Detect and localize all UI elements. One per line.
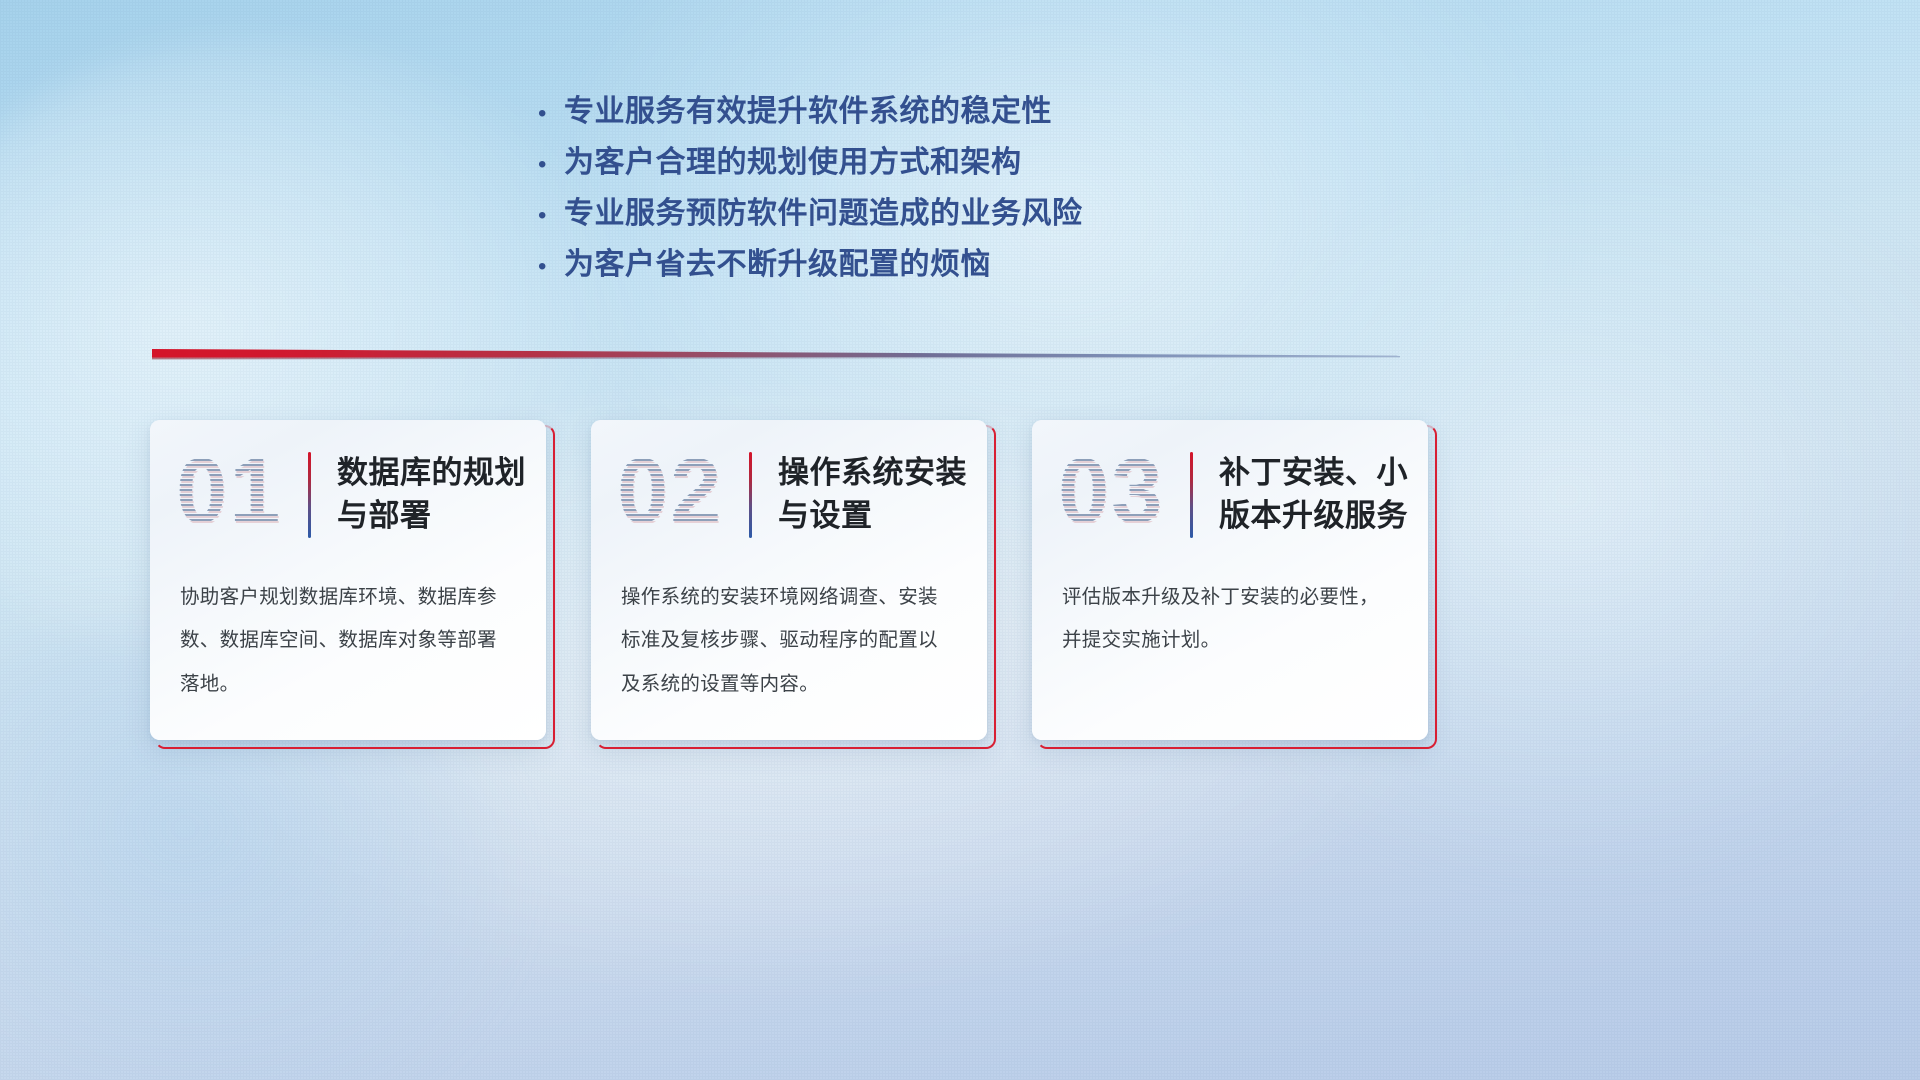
card-divider-bar bbox=[749, 452, 752, 538]
bullet-marker-icon: • bbox=[538, 204, 564, 228]
service-card-03[interactable]: 03 03 补丁安装、小版本升级服务 评估版本升级及补丁安装的必要性，并提交实施… bbox=[1032, 420, 1428, 740]
card-title: 数据库的规划与部署 bbox=[337, 452, 546, 538]
card-number-watermark: 02 02 bbox=[617, 443, 749, 547]
list-item: • 专业服务有效提升软件系统的稳定性 bbox=[538, 86, 1238, 137]
bullet-text: 专业服务预防软件问题造成的业务风险 bbox=[564, 188, 1083, 232]
card-title: 补丁安装、小版本升级服务 bbox=[1219, 452, 1428, 538]
bullet-marker-icon: • bbox=[538, 255, 564, 279]
card-header: 01 01 数据库的规划与部署 bbox=[150, 420, 546, 570]
card-number-tint: 03 bbox=[1059, 441, 1165, 545]
card-body-text: 协助客户规划数据库环境、数据库参数、数据库空间、数据库对象等部署落地。 bbox=[150, 570, 546, 706]
card-divider-bar bbox=[308, 452, 311, 538]
bullet-list: • 专业服务有效提升软件系统的稳定性 • 为客户合理的规划使用方式和架构 • 专… bbox=[538, 86, 1238, 290]
bullet-text: 为客户合理的规划使用方式和架构 bbox=[564, 137, 1022, 181]
bullet-marker-icon: • bbox=[538, 102, 564, 126]
card-number-tint: 01 bbox=[177, 441, 283, 545]
list-item: • 专业服务预防软件问题造成的业务风险 bbox=[538, 188, 1238, 239]
slide-canvas: • 专业服务有效提升软件系统的稳定性 • 为客户合理的规划使用方式和架构 • 专… bbox=[0, 0, 1920, 1080]
card-divider-bar bbox=[1190, 452, 1193, 538]
card-number-tint: 02 bbox=[618, 441, 724, 545]
list-item: • 为客户合理的规划使用方式和架构 bbox=[538, 137, 1238, 188]
divider-wedge-icon bbox=[152, 348, 1400, 364]
card-header: 02 02 操作系统安装与设置 bbox=[591, 420, 987, 570]
service-card-02[interactable]: 02 02 操作系统安装与设置 操作系统的安装环境网络调查、安装标准及复核步骤、… bbox=[591, 420, 987, 740]
bullet-marker-icon: • bbox=[538, 153, 564, 177]
card-number-watermark: 03 03 bbox=[1058, 443, 1190, 547]
card-header: 03 03 补丁安装、小版本升级服务 bbox=[1032, 420, 1428, 570]
card-row: 01 01 数据库的规划与部署 协助客户规划数据库环境、数据库参数、数据库空间、… bbox=[150, 420, 1770, 745]
list-item: • 为客户省去不断升级配置的烦恼 bbox=[538, 239, 1238, 290]
card-body-text: 评估版本升级及补丁安装的必要性，并提交实施计划。 bbox=[1032, 570, 1428, 663]
bullet-text: 为客户省去不断升级配置的烦恼 bbox=[564, 239, 991, 283]
service-card-01[interactable]: 01 01 数据库的规划与部署 协助客户规划数据库环境、数据库参数、数据库空间、… bbox=[150, 420, 546, 740]
bullet-text: 专业服务有效提升软件系统的稳定性 bbox=[564, 86, 1052, 130]
card-body-text: 操作系统的安装环境网络调查、安装标准及复核步骤、驱动程序的配置以及系统的设置等内… bbox=[591, 570, 987, 706]
section-divider bbox=[152, 348, 1400, 364]
card-number-watermark: 01 01 bbox=[176, 443, 308, 547]
card-title: 操作系统安装与设置 bbox=[778, 452, 987, 538]
